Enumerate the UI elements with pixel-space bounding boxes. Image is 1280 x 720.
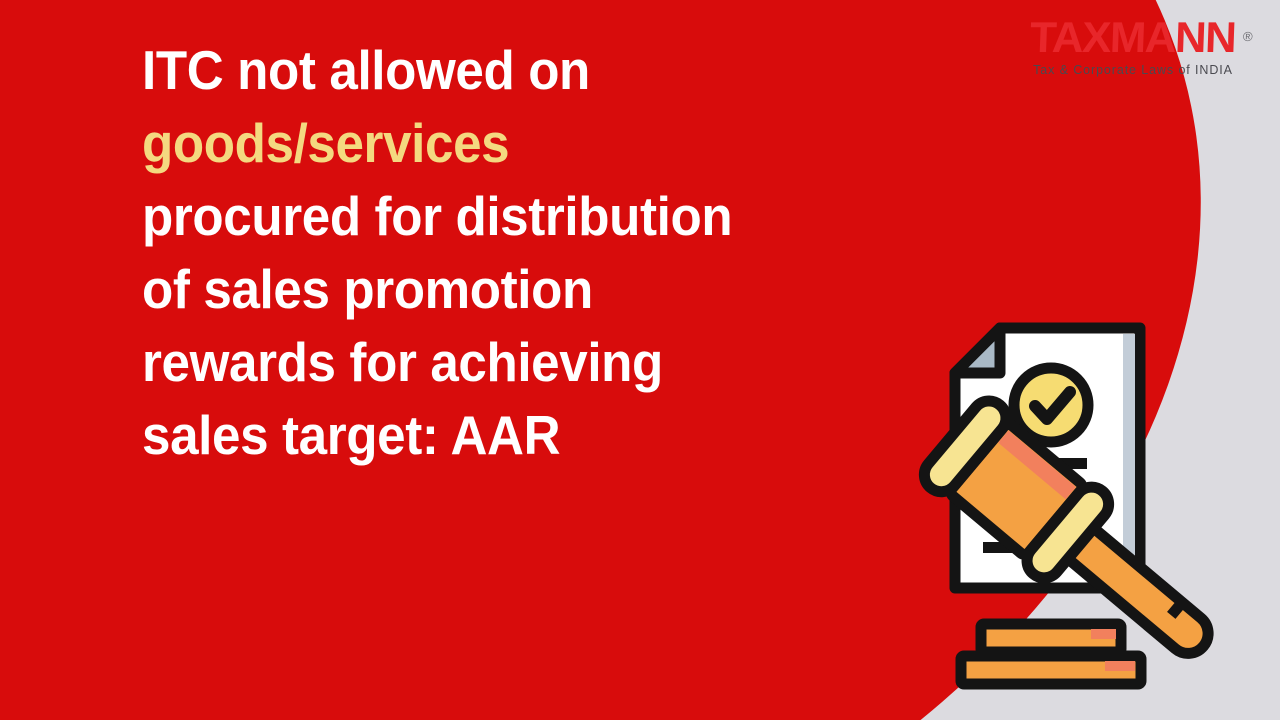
headline-line-5: rewards for achieving (142, 326, 914, 399)
headline-line-1: ITC not allowed on (142, 34, 914, 107)
logo-wordmark-text: TAXMANN (1029, 14, 1236, 62)
headline-block: ITC not allowed on goods/services procur… (142, 34, 972, 472)
headline-line-2-accent: goods/services (142, 107, 914, 180)
taxmann-logo[interactable]: TAXMANN ® Tax & Corporate Laws of INDIA (1008, 14, 1258, 78)
banner-canvas: ITC not allowed on goods/services procur… (0, 0, 1280, 720)
headline-line-3: procured for distribution (142, 180, 914, 253)
gavel-sound-block (961, 624, 1141, 684)
logo-tagline: Tax & Corporate Laws of INDIA (1008, 63, 1258, 78)
logo-wordmark: TAXMANN ® (1029, 14, 1236, 62)
headline-line-4: of sales promotion (142, 253, 914, 326)
headline-line-6: sales target: AAR (142, 399, 914, 472)
legal-document-with-gavel-illustration (895, 318, 1265, 708)
registered-trademark-icon: ® (1242, 13, 1253, 61)
